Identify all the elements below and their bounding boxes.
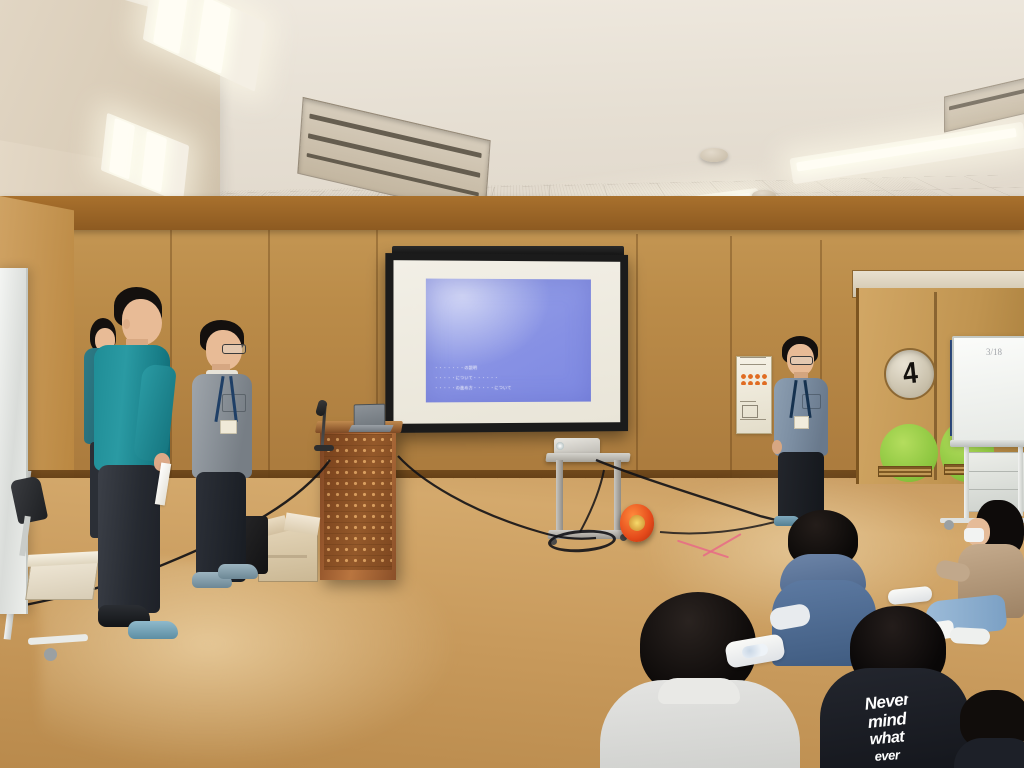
- ear: [123, 319, 130, 329]
- dark-top: [954, 738, 1024, 768]
- slide-text-line-2: ・・・・・について・・・・・・: [434, 375, 570, 381]
- sweatshirt-collar: [658, 678, 740, 704]
- room-number-label: 4: [901, 358, 919, 389]
- slipper: [218, 564, 258, 579]
- glasses-icon: [222, 344, 246, 354]
- student-gray-sweatshirt: [600, 592, 800, 768]
- white-easel-board[interactable]: [0, 268, 28, 614]
- shirt-graphic-print: Never mind what ever: [850, 690, 924, 764]
- easel-caster: [44, 648, 57, 661]
- presenter-man-teal-jacket: [92, 287, 184, 673]
- face-mask: [964, 528, 984, 542]
- poster-dots: [740, 373, 768, 385]
- room-number-sign: 4: [884, 348, 936, 400]
- projected-slide: ・・・・・・・の説明 ・・・・・について・・・・・・ ・・・・・の進め方・・・・…: [426, 278, 592, 402]
- wall-top-trim: [0, 196, 1024, 230]
- slipper: [128, 621, 178, 639]
- ceiling-speaker-icon: [700, 148, 728, 162]
- whiteboard-note-text: 3/18: [986, 346, 1024, 359]
- slide-text-line-3: ・・・・・の進め方・・・・・について: [434, 384, 570, 391]
- presenter-man-blue-jacket: [770, 336, 834, 532]
- student-corner: [960, 690, 1024, 768]
- projection-screen: ・・・・・・・の説明 ・・・・・について・・・・・・ ・・・・・の進め方・・・・…: [385, 253, 628, 433]
- presenter-man-gray-jacket: [192, 320, 262, 610]
- cardboard-box-left: [25, 560, 99, 600]
- trousers: [98, 465, 160, 613]
- character-face-icon: [741, 643, 769, 659]
- id-badge: [220, 420, 237, 434]
- glasses-icon: [790, 356, 813, 365]
- screen-surface: ・・・・・・・の説明 ・・・・・について・・・・・・ ・・・・・の進め方・・・・…: [393, 260, 620, 424]
- student-black-shirt: Never mind what ever: [820, 606, 970, 768]
- photo-scene: ・・・・・・・の説明 ・・・・・について・・・・・・ ・・・・・の進め方・・・・…: [0, 0, 1024, 768]
- id-badge: [794, 416, 809, 429]
- slide-text-line-1: ・・・・・・・の説明: [434, 365, 570, 371]
